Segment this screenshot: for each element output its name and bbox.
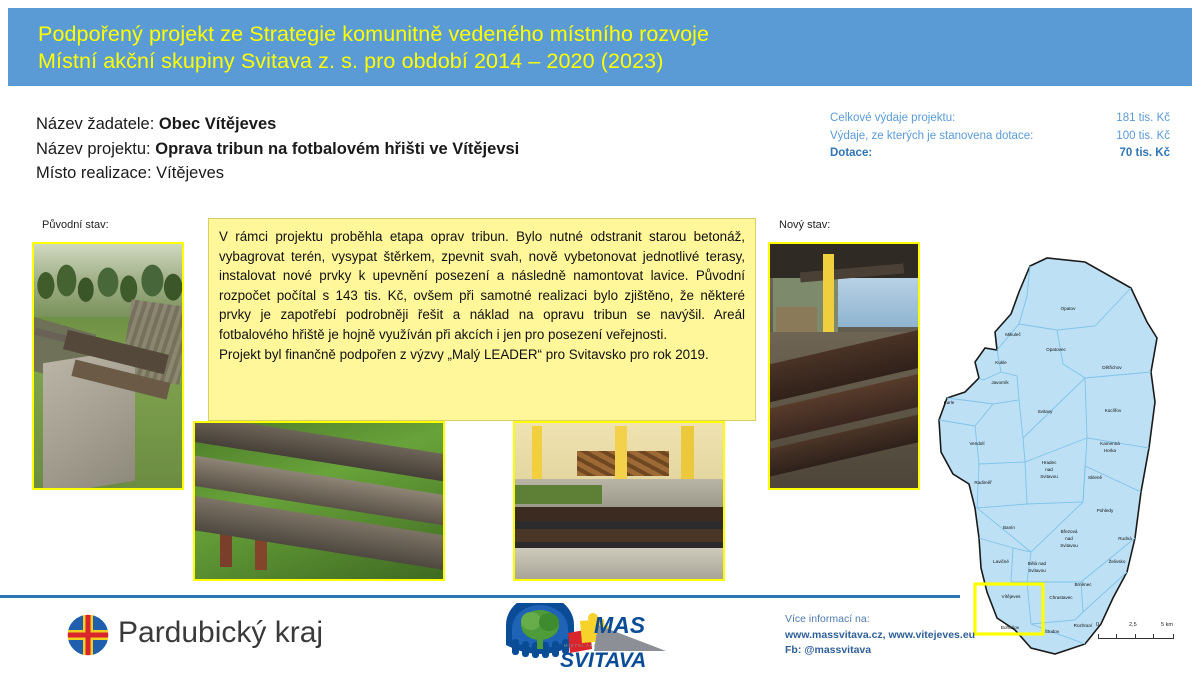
map-label-bohu-ov: Bohuňov: [1001, 625, 1020, 630]
scale-label-mid: 2,5: [1129, 622, 1137, 628]
map-label-pohledy: Pohledy: [1097, 508, 1114, 513]
finance-row: Dotace:70 tis. Kč: [830, 145, 1170, 163]
photo-after-benches-image: [770, 244, 918, 488]
mas-logo-title: MAS: [594, 612, 646, 638]
map-label-brn-nec: Brněnec: [1074, 582, 1092, 587]
finance-value: 181 tis. Kč: [1116, 110, 1170, 128]
scale-label-start: 0: [1096, 622, 1099, 628]
contact-block: Více informací na: www.massvitava.cz, ww…: [785, 612, 975, 659]
photo-before-grandstand: [32, 242, 184, 490]
map-label-rudn-: Rudná: [1118, 536, 1132, 541]
map-label-lavi-n-: Lavičné: [993, 559, 1009, 564]
applicant-info-block: Název žadatele: Obec Vítějeves Název pro…: [36, 112, 656, 186]
finance-label: Výdaje, ze kterých je stanovena dotace:: [830, 128, 1033, 146]
map-label-d-t-ichov: Dětřichov: [1102, 365, 1122, 370]
finance-row: Celkové výdaje projektu:181 tis. Kč: [830, 110, 1170, 128]
contact-intro: Více informací na:: [785, 612, 975, 628]
description-paragraph-2: Projekt byl finančně podpořen z výzvy „M…: [219, 345, 745, 365]
map-label-karle: Karle: [944, 400, 955, 405]
place-label: Místo realizace:: [36, 164, 152, 182]
slide-header: Podpořený projekt ze Strategie komunitně…: [8, 8, 1192, 86]
caption-after: Nový stav:: [779, 219, 830, 231]
map-label-b-l-nad: Bělá nad: [1028, 561, 1047, 566]
map-label-svitavou: Svitavou: [1028, 568, 1046, 573]
map-label-javorn-k: Javorník: [991, 380, 1009, 385]
project-description-box: V rámci projektu proběhla etapa oprav tr…: [208, 218, 756, 421]
map-label-kamenn-: Kamenná: [1100, 441, 1120, 446]
map-label-horka: Horka: [1104, 448, 1117, 453]
map-label-svitavou: Svitavou: [1040, 474, 1058, 479]
map-label-svitavou: Svitavou: [1060, 543, 1078, 548]
header-title-line2: Místní akční skupiny Svitava z. s. pro o…: [38, 48, 1192, 75]
mas-logo-subtitle: SVITAVA: [560, 649, 646, 671]
map-label-rozhran-: Rozhraní: [1074, 623, 1093, 628]
footer-divider: [0, 595, 960, 598]
finance-label: Dotace:: [830, 145, 872, 163]
contact-facebook[interactable]: Fb: @massvitava: [785, 643, 975, 659]
description-paragraph-1: V rámci projektu proběhla etapa oprav tr…: [219, 227, 745, 345]
project-label: Název projektu:: [36, 140, 151, 158]
map-municipality-shapes: [939, 258, 1157, 654]
map-label-opatov: Opatov: [1061, 306, 1077, 311]
map-label-ban-n: Banín: [1003, 525, 1015, 530]
finance-label: Celkové výdaje projektu:: [830, 110, 955, 128]
map-label-radim-: Radiměř: [974, 480, 992, 485]
place-row: Místo realizace: Vítějeves: [36, 161, 656, 186]
map-label-nad: nad: [1065, 536, 1073, 541]
region-map-svg: OpatovMikulečOpatovecKukleDětřichovJavor…: [935, 252, 1185, 662]
photo-before-building-image: [515, 423, 723, 579]
photo-before-grandstand-image: [34, 244, 182, 488]
map-label-b-ezov-: Březová: [1061, 529, 1078, 534]
place-value: Vítějeves: [156, 164, 224, 182]
map-label-studov: Studov: [1045, 629, 1060, 634]
pardubicky-kraj-logo-icon: [66, 613, 110, 657]
map-label-vendol-: Vendolí: [969, 441, 985, 446]
finance-row: Výdaje, ze kterých je stanovena dotace:1…: [830, 128, 1170, 146]
photo-before-building: [513, 421, 725, 581]
project-row: Název projektu: Oprava tribun na fotbalo…: [36, 137, 656, 162]
finance-value: 100 tis. Kč: [1116, 128, 1170, 146]
presentation-slide: Podpořený projekt ze Strategie komunitně…: [0, 0, 1200, 675]
applicant-row: Název žadatele: Obec Vítějeves: [36, 112, 656, 137]
map-label-opatovec: Opatovec: [1046, 347, 1066, 352]
region-map: OpatovMikulečOpatovecKukleDětřichovJavor…: [935, 252, 1185, 662]
finance-value: 70 tis. Kč: [1120, 145, 1171, 163]
map-label-sklen-: Skleně: [1088, 475, 1102, 480]
map-label--elivsko: Želivsko: [1109, 557, 1126, 564]
photo-before-planks: [193, 421, 445, 581]
map-label-nad: nad: [1045, 467, 1053, 472]
applicant-value: Obec Vítějeves: [159, 115, 276, 133]
scale-label-end: 5 km: [1161, 622, 1173, 628]
applicant-label: Název žadatele:: [36, 115, 154, 133]
map-label-v-t-jeves: Vítějeves: [1002, 594, 1022, 599]
contact-websites[interactable]: www.massvitava.cz, www.vitejeves.eu: [785, 628, 975, 644]
map-label-hradec: Hradec: [1042, 460, 1058, 465]
map-label-svitavy: Svitavy: [1038, 409, 1054, 414]
map-label-kukle: Kukle: [995, 360, 1007, 365]
photo-after-benches: [768, 242, 920, 490]
caption-before: Původní stav:: [42, 219, 109, 231]
project-value: Oprava tribun na fotbalovém hřišti ve Ví…: [155, 140, 519, 158]
finance-summary: Celkové výdaje projektu:181 tis. KčVýdaj…: [830, 110, 1170, 163]
pardubicky-kraj-label: Pardubický kraj: [118, 616, 323, 650]
photo-before-planks-image: [195, 423, 443, 579]
mas-logo-tagline: MÍSTNÍ AKČNÍ SKUPINA: [564, 643, 631, 648]
header-title-line1: Podpořený projekt ze Strategie komunitně…: [38, 8, 1192, 48]
map-label-chrastavec: Chrastavec: [1049, 595, 1073, 600]
map-label-kocl-ov: Koclířov: [1105, 408, 1122, 413]
map-scale-bar: 0 2,5 5 km: [1098, 622, 1176, 646]
mas-svitava-logo-icon: MAS MÍSTNÍ AKČNÍ SKUPINA SVITAVA: [498, 603, 668, 671]
map-label-mikule-: Mikuleč: [1005, 332, 1021, 337]
